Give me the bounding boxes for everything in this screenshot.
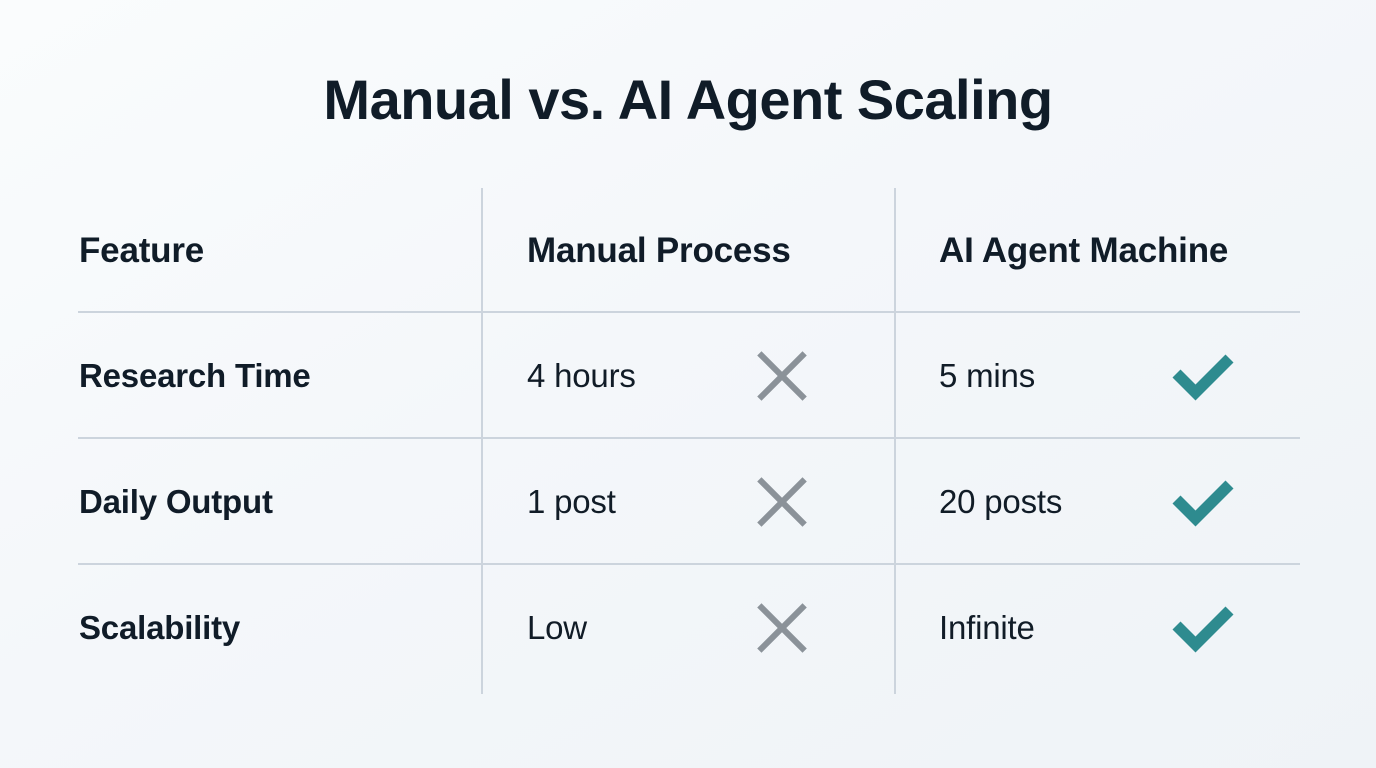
feature-cell: Research Time: [78, 357, 481, 395]
manual-value-label: Low: [527, 609, 587, 647]
page-title: Manual vs. AI Agent Scaling: [0, 68, 1376, 132]
agent-value-label: 5 mins: [939, 357, 1035, 395]
agent-value-cell: Infinite: [894, 609, 1300, 647]
manual-value-cell: Low: [481, 609, 894, 647]
table-row: Scalability Low Infinite: [78, 565, 1300, 691]
column-header-label: AI Agent Machine: [939, 231, 1228, 271]
feature-label: Research Time: [79, 357, 311, 394]
agent-value-label: Infinite: [939, 609, 1035, 647]
feature-label: Scalability: [79, 609, 240, 646]
cross-icon: [753, 347, 811, 405]
column-header-label: Manual Process: [527, 231, 791, 271]
comparison-table-slide: Manual vs. AI Agent Scaling Feature Manu…: [0, 0, 1376, 768]
agent-value-label: 20 posts: [939, 483, 1062, 521]
feature-label: Daily Output: [79, 483, 273, 520]
cross-icon: [753, 473, 811, 531]
feature-cell: Scalability: [78, 609, 481, 647]
feature-cell: Daily Output: [78, 483, 481, 521]
check-icon: [1170, 473, 1236, 531]
table-header-row: Feature Manual Process AI Agent Machine: [78, 188, 1300, 313]
check-icon: [1170, 347, 1236, 405]
agent-value-cell: 20 posts: [894, 483, 1300, 521]
manual-value-label: 1 post: [527, 483, 616, 521]
header-cell-manual: Manual Process: [481, 231, 894, 271]
header-cell-feature: Feature: [78, 231, 481, 271]
column-header-label: Feature: [79, 231, 204, 270]
manual-value-cell: 1 post: [481, 483, 894, 521]
agent-value-cell: 5 mins: [894, 357, 1300, 395]
table-row: Research Time 4 hours 5 mins: [78, 313, 1300, 439]
manual-value-label: 4 hours: [527, 357, 636, 395]
header-cell-agent: AI Agent Machine: [894, 231, 1300, 271]
table-row: Daily Output 1 post 20 posts: [78, 439, 1300, 565]
check-icon: [1170, 599, 1236, 657]
manual-value-cell: 4 hours: [481, 357, 894, 395]
cross-icon: [753, 599, 811, 657]
comparison-table: Feature Manual Process AI Agent Machine …: [78, 188, 1300, 691]
